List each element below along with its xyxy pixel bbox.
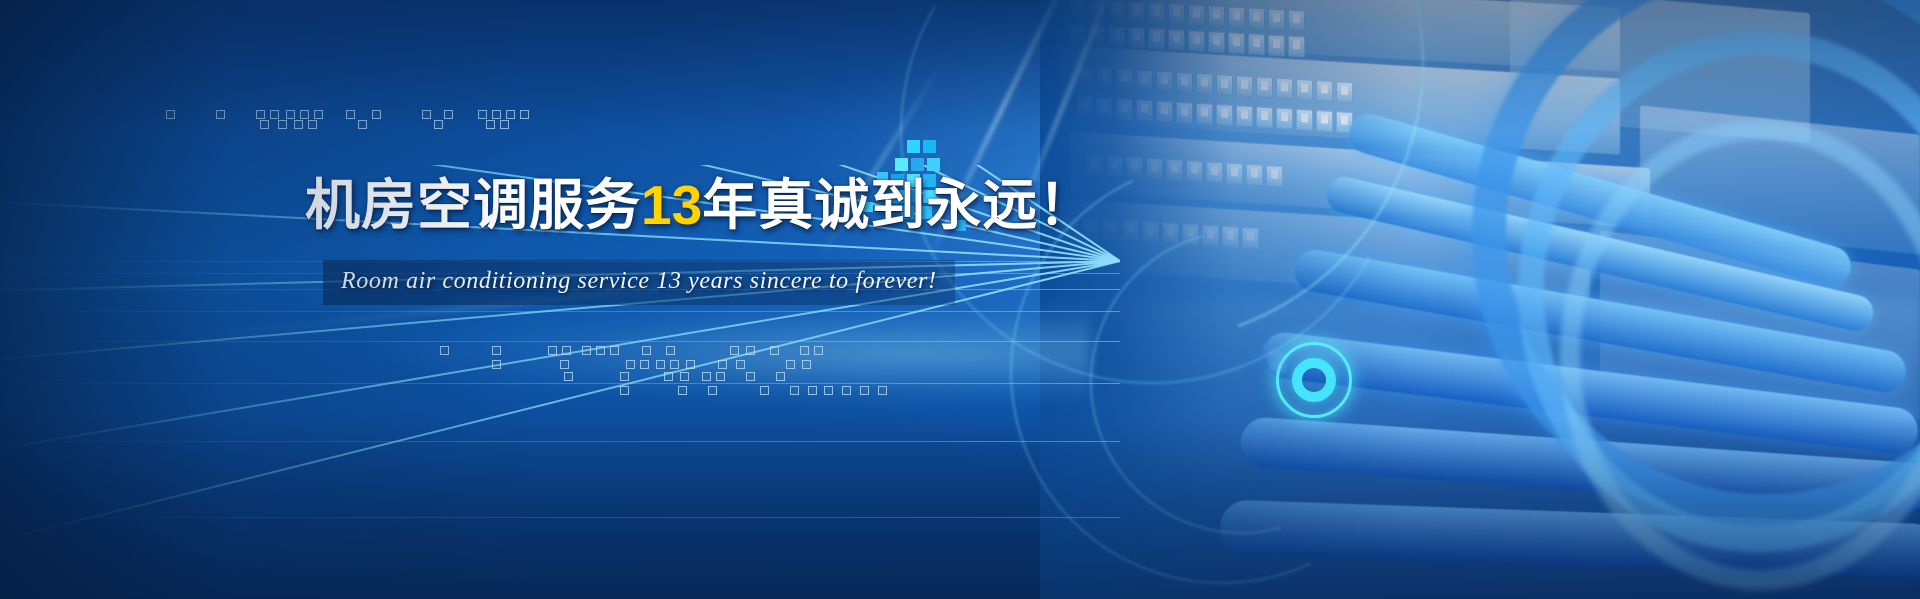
hero-banner: 机房空调服务13年真诚到永远！ Room air conditioning se… xyxy=(0,0,1920,599)
vignette-overlay xyxy=(0,0,1920,599)
